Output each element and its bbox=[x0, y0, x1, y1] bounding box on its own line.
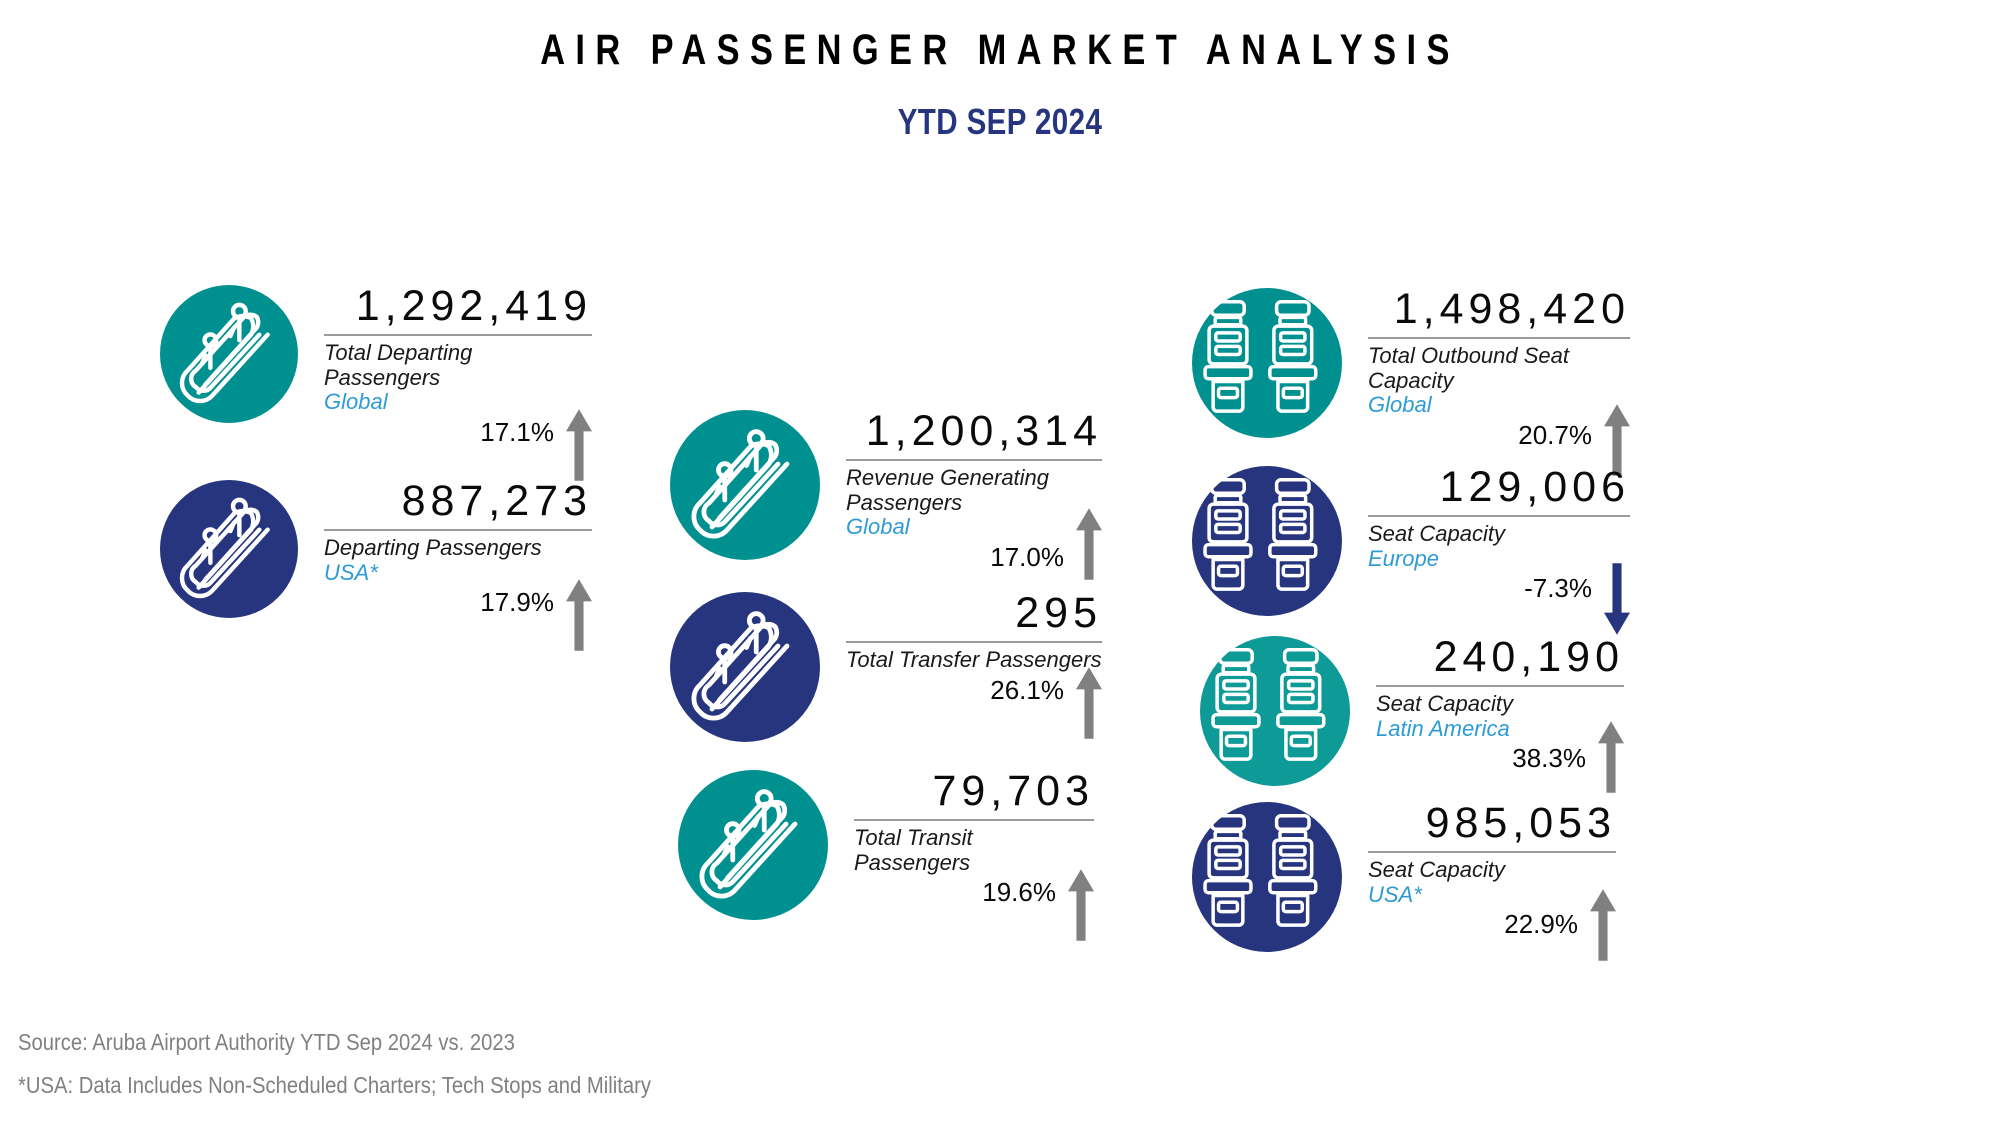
metric-value: 295 bbox=[846, 592, 1102, 635]
metric-label: Seat Capacity bbox=[1368, 858, 1616, 883]
page-title: AIR PASSENGER MARKET ANALYSIS bbox=[200, 0, 1800, 75]
metric-value: 129,006 bbox=[1368, 466, 1630, 509]
change-percent: 17.9% bbox=[480, 587, 554, 618]
arrow-up-icon bbox=[1076, 667, 1102, 739]
metric-divider bbox=[854, 819, 1094, 821]
change-row: 26.1% bbox=[846, 675, 1102, 739]
metric-value: 985,053 bbox=[1368, 802, 1616, 845]
metric-divider bbox=[1376, 685, 1624, 687]
metric-divider bbox=[324, 334, 592, 336]
metric-label: Total Outbound Seat Capacity bbox=[1368, 344, 1630, 393]
change-row: 17.0% bbox=[846, 542, 1102, 580]
metric-label: Total Departing Passengers bbox=[324, 341, 592, 390]
metric-label: Revenue Generating Passengers bbox=[846, 466, 1102, 515]
page-subtitle: YTD SEP 2024 bbox=[180, 75, 1820, 143]
change-row: 17.1% bbox=[324, 417, 592, 481]
metric-value: 79,703 bbox=[854, 770, 1094, 813]
metric-region: Global bbox=[324, 390, 592, 415]
escalator-icon-circle bbox=[670, 592, 820, 742]
metric-label: Seat Capacity bbox=[1376, 692, 1624, 717]
escalator-icon bbox=[670, 410, 820, 560]
airplane-seats-icon-circle bbox=[1200, 636, 1350, 786]
airplane-seats-icon-circle bbox=[1192, 288, 1342, 438]
change-percent: 17.1% bbox=[480, 417, 554, 448]
metric-divider bbox=[1368, 515, 1630, 517]
change-percent: 17.0% bbox=[990, 542, 1064, 573]
metric-divider bbox=[846, 459, 1102, 461]
airplane-seats-icon-circle bbox=[1192, 466, 1342, 616]
arrow-up-icon bbox=[1076, 508, 1102, 580]
airplane-seats-icon bbox=[1192, 466, 1342, 616]
footnotes: Source: Aruba Airport Authority YTD Sep … bbox=[18, 1029, 737, 1099]
metric-label: Departing Passengers bbox=[324, 536, 592, 561]
arrow-up-icon bbox=[1598, 721, 1624, 793]
change-row: 17.9% bbox=[324, 587, 592, 651]
metric-card-total-transfer-passengers: 295 Total Transfer Passengers 26.1% bbox=[670, 592, 1102, 742]
arrow-up-icon bbox=[1068, 869, 1094, 941]
airplane-seats-icon bbox=[1200, 636, 1350, 786]
change-percent: 26.1% bbox=[990, 675, 1064, 706]
metric-region: USA* bbox=[324, 561, 592, 586]
metric-card-revenue-generating-passengers: 1,200,314 Revenue Generating Passengers … bbox=[670, 410, 1102, 580]
escalator-icon-circle bbox=[678, 770, 828, 920]
escalator-icon-circle bbox=[670, 410, 820, 560]
metric-divider bbox=[846, 641, 1102, 643]
metric-region: Global bbox=[846, 515, 1102, 540]
change-row: -7.3% bbox=[1368, 573, 1630, 635]
metric-card-total-outbound-seat-capacity: 1,498,420 Total Outbound Seat Capacity G… bbox=[1192, 288, 1630, 476]
airplane-seats-icon-circle bbox=[1192, 802, 1342, 952]
footnote-source: Source: Aruba Airport Authority YTD Sep … bbox=[18, 1029, 651, 1056]
metric-card-total-departing-passengers: 1,292,419 Total Departing Passengers Glo… bbox=[160, 285, 592, 481]
metric-value: 887,273 bbox=[324, 480, 592, 523]
metric-value: 240,190 bbox=[1376, 636, 1624, 679]
escalator-icon-circle bbox=[160, 480, 298, 618]
metric-region: Latin America bbox=[1376, 717, 1624, 742]
metric-card-total-transit-passengers: 79,703 Total Transit Passengers 19.6% bbox=[678, 770, 1094, 941]
metric-divider bbox=[1368, 337, 1630, 339]
airplane-seats-icon bbox=[1192, 802, 1342, 952]
metric-divider bbox=[1368, 851, 1616, 853]
metric-region: USA* bbox=[1368, 883, 1616, 908]
change-percent: 20.7% bbox=[1518, 420, 1592, 451]
escalator-icon bbox=[670, 592, 820, 742]
change-percent: 22.9% bbox=[1504, 909, 1578, 940]
metric-card-seat-capacity-latin-america: 240,190 Seat Capacity Latin America 38.3… bbox=[1200, 636, 1624, 793]
change-percent: 38.3% bbox=[1512, 743, 1586, 774]
header: AIR PASSENGER MARKET ANALYSIS YTD SEP 20… bbox=[0, 0, 2000, 143]
change-percent: 19.6% bbox=[982, 877, 1056, 908]
arrow-up-icon bbox=[566, 579, 592, 651]
arrow-down-icon bbox=[1604, 563, 1630, 635]
metric-value: 1,200,314 bbox=[846, 410, 1102, 453]
metric-region: Global bbox=[1368, 393, 1630, 418]
arrow-up-icon bbox=[1590, 889, 1616, 961]
change-percent: -7.3% bbox=[1524, 573, 1592, 604]
arrow-up-icon bbox=[566, 409, 592, 481]
metric-divider bbox=[324, 529, 592, 531]
change-row: 22.9% bbox=[1368, 909, 1616, 961]
escalator-icon bbox=[678, 770, 828, 920]
escalator-icon bbox=[160, 480, 298, 618]
airplane-seats-icon bbox=[1192, 288, 1342, 438]
metric-region: Europe bbox=[1368, 547, 1630, 572]
escalator-icon bbox=[160, 285, 298, 423]
metric-value: 1,498,420 bbox=[1368, 288, 1630, 331]
metric-card-seat-capacity-usa: 985,053 Seat Capacity USA* 22.9% bbox=[1192, 802, 1616, 961]
change-row: 19.6% bbox=[854, 877, 1094, 941]
change-row: 38.3% bbox=[1376, 743, 1624, 793]
metric-label: Seat Capacity bbox=[1368, 522, 1630, 547]
footnote-usa-disclaimer: *USA: Data Includes Non-Scheduled Charte… bbox=[18, 1072, 651, 1099]
metric-card-departing-passengers-usa: 887,273 Departing Passengers USA* 17.9% bbox=[160, 480, 592, 651]
escalator-icon-circle bbox=[160, 285, 298, 423]
metric-label: Total Transfer Passengers bbox=[846, 648, 1102, 673]
metric-label: Total Transit Passengers bbox=[854, 826, 1094, 875]
metric-value: 1,292,419 bbox=[324, 285, 592, 328]
metric-card-seat-capacity-europe: 129,006 Seat Capacity Europe -7.3% bbox=[1192, 466, 1630, 635]
